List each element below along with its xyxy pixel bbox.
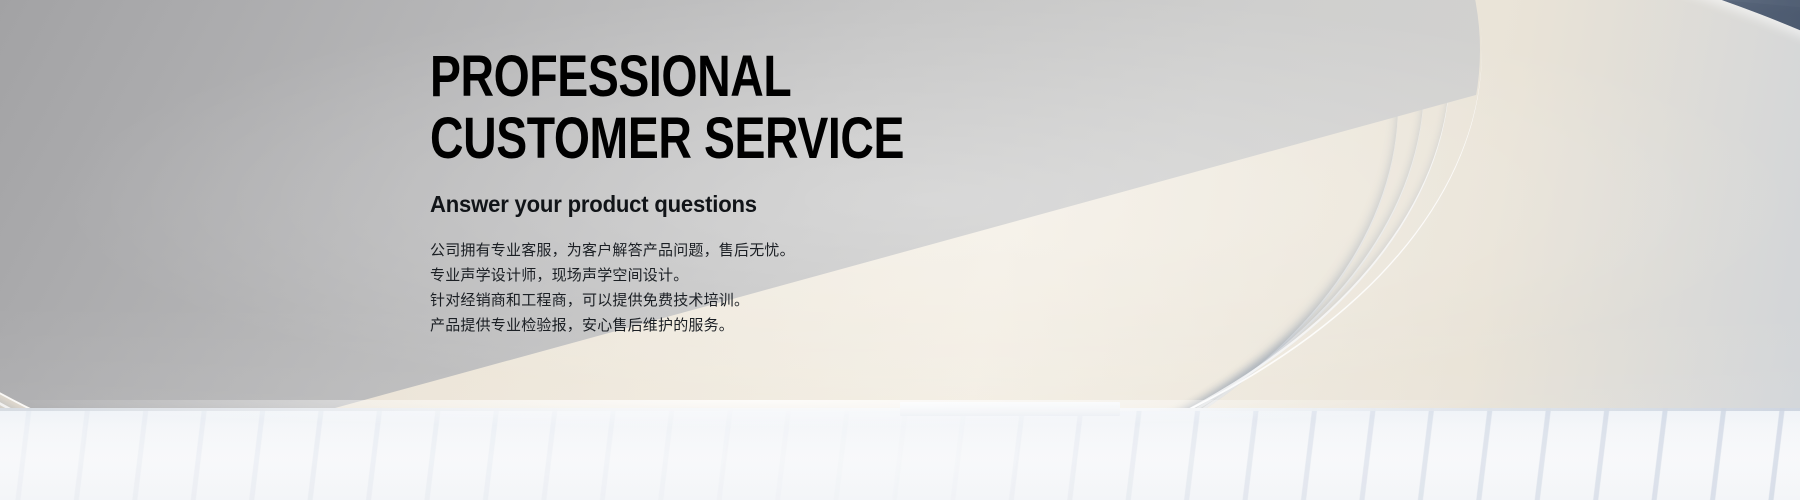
page-title: PROFESSIONAL CUSTOMER SERVICE [430, 48, 1086, 168]
banner-description-list: 公司拥有专业客服，为客户解答产品问题，售后无忧。 专业声学设计师，现场声学空间设… [430, 238, 1250, 338]
description-line: 专业声学设计师，现场声学空间设计。 [430, 263, 1250, 288]
professional-customer-service-banner: PROFESSIONAL CUSTOMER SERVICE Answer you… [0, 0, 1800, 500]
floor-stripe-pattern [0, 408, 1800, 500]
banner-subtitle: Answer your product questions [430, 190, 1217, 218]
floor-glow [0, 400, 1800, 440]
floor-surface [0, 408, 1800, 500]
headline-line-2: CUSTOMER SERVICE [430, 110, 1086, 168]
banner-text-block: PROFESSIONAL CUSTOMER SERVICE Answer you… [430, 48, 1250, 338]
description-line: 公司拥有专业客服，为客户解答产品问题，售后无忧。 [430, 238, 1250, 263]
description-line: 产品提供专业检验报，安心售后维护的服务。 [430, 313, 1250, 338]
description-line: 针对经销商和工程商，可以提供免费技术培训。 [430, 288, 1250, 313]
headline-line-1: PROFESSIONAL [430, 48, 1086, 106]
floor-podium-block [900, 402, 1120, 416]
floor-horizon-line [0, 408, 1800, 411]
